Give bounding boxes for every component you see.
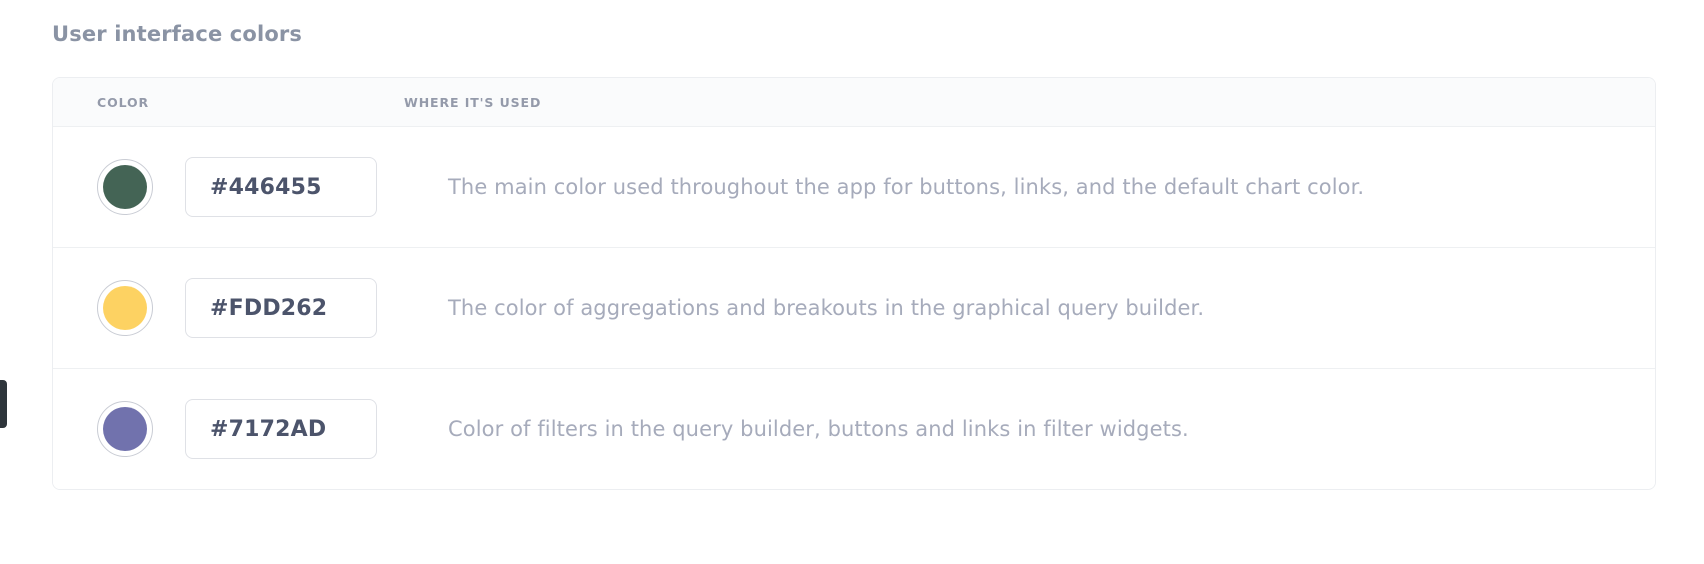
color-cell: #7172AD: [53, 399, 448, 459]
ui-colors-card: COLOR WHERE IT'S USED #446455 The main c…: [52, 77, 1656, 490]
hex-value: #446455: [210, 175, 322, 200]
column-header-color: COLOR: [53, 95, 404, 110]
color-description: Color of filters in the query builder, b…: [448, 417, 1655, 441]
color-swatch-button[interactable]: [97, 401, 153, 457]
table-row: #FDD262 The color of aggregations and br…: [53, 248, 1655, 369]
hex-value: #7172AD: [210, 417, 326, 442]
color-swatch-button[interactable]: [97, 280, 153, 336]
color-swatch-fill: [103, 407, 147, 451]
page-title: User interface colors: [52, 20, 302, 48]
hex-input[interactable]: #446455: [185, 157, 377, 217]
color-cell: #446455: [53, 157, 448, 217]
hex-value: #FDD262: [210, 296, 327, 321]
hex-input[interactable]: #7172AD: [185, 399, 377, 459]
color-cell: #FDD262: [53, 278, 448, 338]
column-header-where-used: WHERE IT'S USED: [404, 95, 541, 110]
hex-input[interactable]: #FDD262: [185, 278, 377, 338]
table-row: #446455 The main color used throughout t…: [53, 127, 1655, 248]
color-swatch-fill: [103, 286, 147, 330]
table-row: #7172AD Color of filters in the query bu…: [53, 369, 1655, 489]
left-edge-sliver: [0, 380, 7, 428]
color-swatch-fill: [103, 165, 147, 209]
color-swatch-button[interactable]: [97, 159, 153, 215]
settings-appearance-page: User interface colors COLOR WHERE IT'S U…: [0, 0, 1704, 564]
color-description: The main color used throughout the app f…: [448, 175, 1655, 199]
color-description: The color of aggregations and breakouts …: [448, 296, 1655, 320]
table-header-row: COLOR WHERE IT'S USED: [53, 78, 1655, 127]
